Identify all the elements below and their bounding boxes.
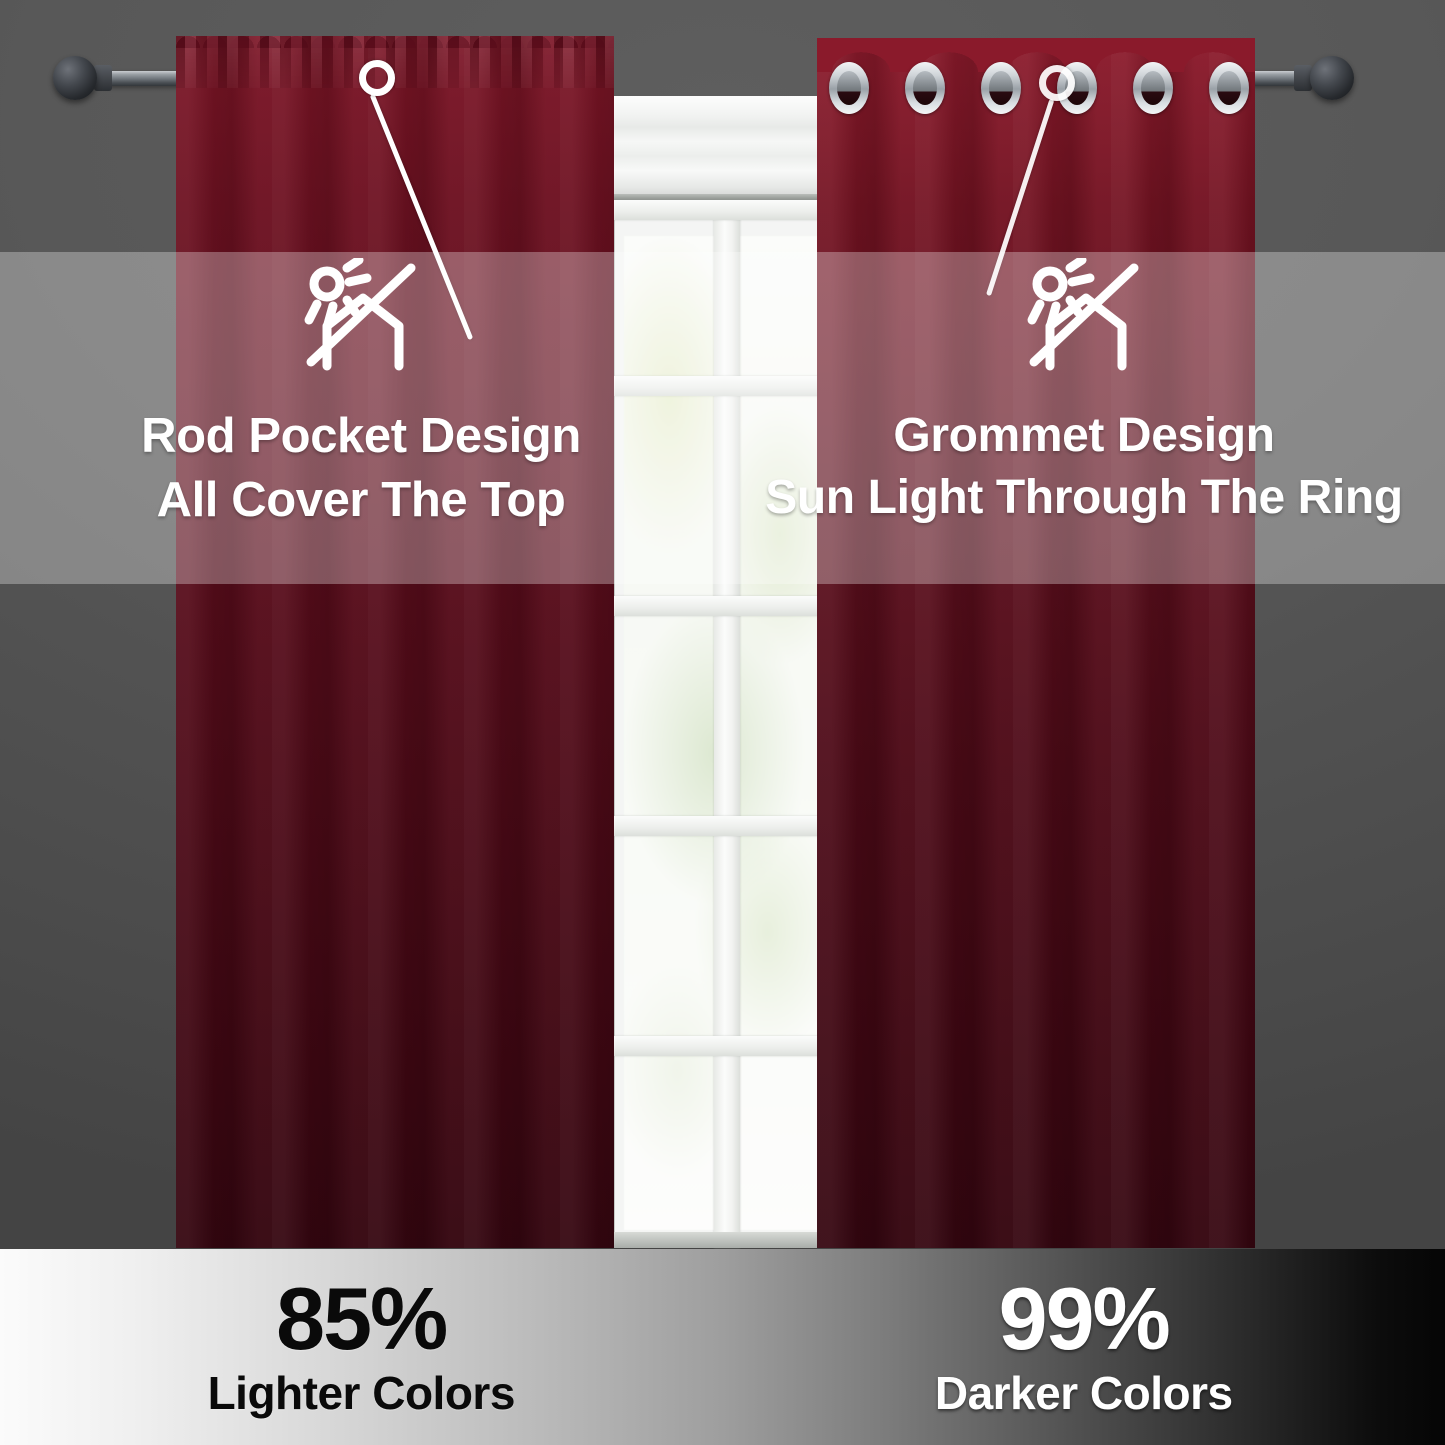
stat-lighter-colors: 85% Lighter Colors <box>0 1249 723 1445</box>
grommet-ring <box>1133 62 1173 114</box>
rod-pocket-callout-ring <box>359 60 395 96</box>
stats-banner: 85% Lighter Colors 99% Darker Colors <box>0 1249 1445 1445</box>
grommet-ring <box>829 62 869 114</box>
grommet-ring <box>905 62 945 114</box>
mullion-horizontal <box>614 1036 839 1056</box>
stat-percent: 99% <box>999 1276 1169 1362</box>
sun-blocked-house-icon <box>1020 258 1148 383</box>
grommet-ring <box>1209 62 1249 114</box>
rod-finial-left <box>53 56 97 100</box>
grommet-callout-ring <box>1039 65 1075 101</box>
stat-label: Lighter Colors <box>208 1368 515 1419</box>
feature-title-line2: Sun Light Through The Ring <box>765 467 1402 529</box>
sun-blocked-house-icon <box>297 258 425 383</box>
feature-title-grommet: Grommet Design Sun Light Through The Rin… <box>765 405 1402 530</box>
infographic-canvas: Rod Pocket Design All Cover The Top Grom… <box>0 0 1445 1445</box>
grommet-scalloped-top <box>817 38 1255 72</box>
feature-title-rod-pocket: Rod Pocket Design All Cover The Top <box>141 405 581 532</box>
rod-pocket-curtain-panel <box>176 36 614 1248</box>
stat-darker-colors: 99% Darker Colors <box>723 1249 1445 1445</box>
feature-title-line1: Grommet Design <box>765 405 1402 467</box>
window-shade <box>614 96 839 200</box>
mullion-horizontal <box>614 200 839 220</box>
mullion-horizontal <box>614 596 839 616</box>
stat-label: Darker Colors <box>935 1368 1233 1419</box>
stat-percent: 85% <box>276 1276 446 1362</box>
feature-title-line1: Rod Pocket Design <box>141 405 581 469</box>
grommet-ring <box>981 62 1021 114</box>
feature-grommet: Grommet Design Sun Light Through The Rin… <box>723 252 1445 584</box>
mullion-horizontal <box>614 816 839 836</box>
window-sill <box>610 1232 843 1248</box>
feature-rod-pocket: Rod Pocket Design All Cover The Top <box>0 252 722 584</box>
rod-finial-right <box>1310 56 1354 100</box>
rod-pocket-gathers <box>176 36 614 88</box>
grommet-curtain-panel <box>817 50 1255 1248</box>
feature-title-line2: All Cover The Top <box>141 469 581 533</box>
